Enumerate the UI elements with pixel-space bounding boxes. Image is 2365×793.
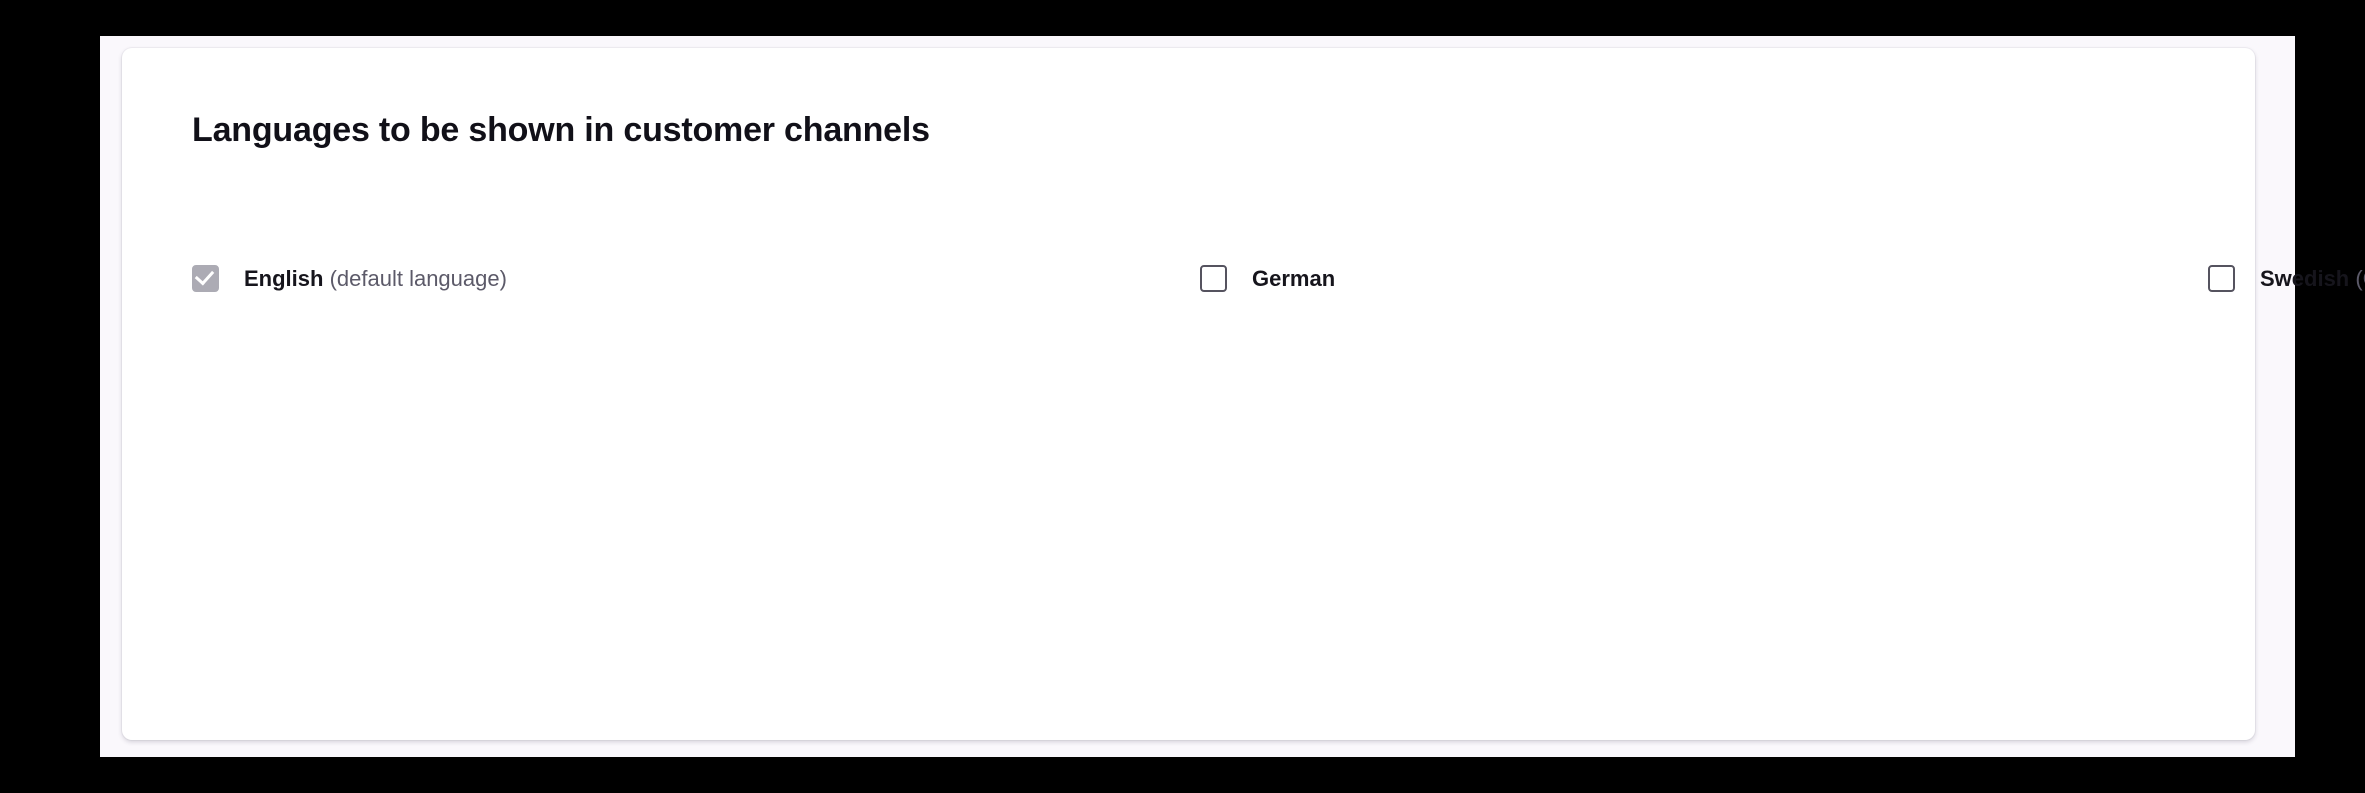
card-content: Languages to be shown in customer channe… bbox=[122, 48, 2255, 740]
screen-root: Languages to be shown in customer channe… bbox=[0, 0, 2365, 793]
checkbox-unchecked-icon[interactable] bbox=[2208, 265, 2235, 292]
languages-settings-card: Languages to be shown in customer channe… bbox=[122, 48, 2255, 740]
language-checkbox-grid: English (default language)GermanSwedish … bbox=[192, 240, 2182, 317]
page-title: Languages to be shown in customer channe… bbox=[192, 110, 2185, 151]
language-name: German bbox=[1252, 266, 1335, 291]
check-mark-icon bbox=[195, 266, 215, 286]
language-label-swedish[interactable]: Swedish (Only in-store & online) bbox=[2260, 265, 2365, 293]
language-name: English bbox=[244, 266, 323, 291]
language-row-german[interactable]: German bbox=[1200, 240, 2208, 317]
language-label-english: English (default language) bbox=[244, 265, 507, 293]
language-label-german[interactable]: German bbox=[1252, 265, 1335, 293]
checkbox-unchecked-icon[interactable] bbox=[1200, 265, 1227, 292]
language-row-english: English (default language) bbox=[192, 240, 1200, 317]
checkbox-checked-disabled-icon bbox=[192, 265, 219, 292]
language-row-swedish[interactable]: Swedish (Only in-store & online) bbox=[2208, 240, 2365, 317]
language-name: Swedish bbox=[2260, 266, 2349, 291]
language-availability-note: (default language) bbox=[330, 266, 507, 291]
language-availability-note: (Only in-store & online) bbox=[2355, 266, 2365, 291]
